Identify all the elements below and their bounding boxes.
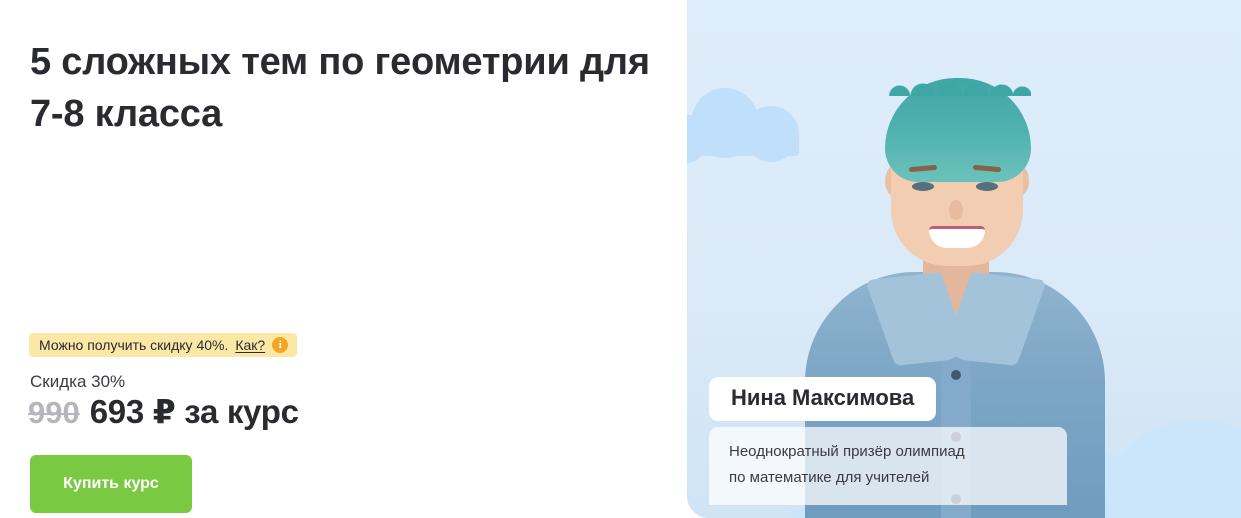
instructor-panel: Нина Максимова Неоднократный призёр олим… bbox=[687, 0, 1241, 518]
instructor-name: Нина Максимова bbox=[709, 377, 936, 421]
instructor-bio: Неоднократный призёр олимпиад по математ… bbox=[709, 427, 1067, 505]
page-title: 5 сложных тем по геометрии для 7-8 класс… bbox=[30, 36, 650, 140]
discount-badge[interactable]: Можно получить скидку 40%. Как? i bbox=[29, 333, 297, 357]
current-price: 693 ₽ за курс bbox=[90, 392, 299, 431]
instructor-bio-line-1: Неоднократный призёр олимпиад bbox=[729, 439, 1047, 465]
info-icon[interactable]: i bbox=[272, 337, 288, 353]
old-price: 990 bbox=[28, 395, 80, 431]
price-row: 990 693 ₽ за курс bbox=[28, 392, 299, 431]
discount-how-link[interactable]: Как? bbox=[235, 337, 265, 353]
promo-banner: 5 сложных тем по геометрии для 7-8 класс… bbox=[0, 0, 1241, 518]
cloud-icon bbox=[687, 88, 815, 140]
discount-badge-text: Можно получить скидку 40%. bbox=[39, 333, 228, 357]
buy-course-button[interactable]: Купить курс bbox=[30, 455, 192, 513]
offer-column: 5 сложных тем по геометрии для 7-8 класс… bbox=[0, 0, 687, 518]
instructor-bio-line-2: по математике для учителей bbox=[729, 465, 1047, 491]
discount-percent-label: Скидка 30% bbox=[30, 371, 125, 393]
